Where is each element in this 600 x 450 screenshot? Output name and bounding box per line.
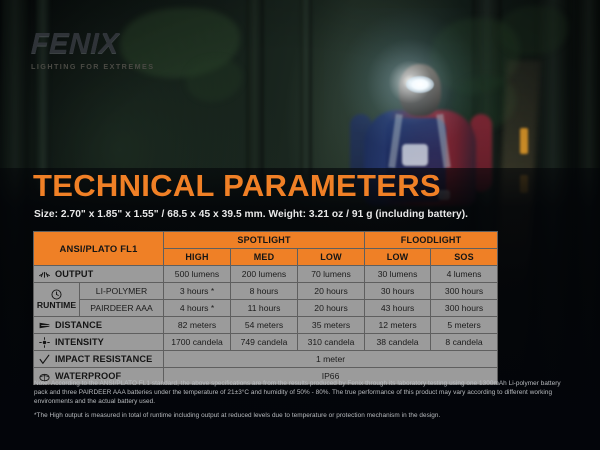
sun-burst-icon [38, 268, 51, 281]
table-row: INTENSITY 1700 candela 749 candela 310 c… [34, 334, 498, 351]
row-sublabel-pairdeer-aaa: PAIRDEER AAA [80, 300, 164, 317]
cell-distance-flood-low: 12 meters [365, 317, 431, 334]
table-row: RUNTIME LI-POLYMER 3 hours * 8 hours 20 … [34, 283, 498, 300]
cell-runtime-lipo-spot-high: 3 hours * [164, 283, 231, 300]
row-sublabel-li-polymer: LI-POLYMER [80, 283, 164, 300]
cell-intensity-flood-sos: 8 candela [431, 334, 498, 351]
header-mode-flood-sos: SOS [431, 249, 498, 266]
header-mode-spot-low: LOW [298, 249, 365, 266]
header-ansi-plato: ANSI/PLATO FL1 [34, 232, 164, 266]
cell-runtime-aaa-spot-high: 4 hours * [164, 300, 231, 317]
footnote-star: *The High output is measured in total of… [34, 411, 570, 420]
cell-output-spot-low: 70 lumens [298, 266, 365, 283]
row-label-text: RUNTIME [37, 301, 76, 311]
cell-intensity-spot-med: 749 candela [231, 334, 298, 351]
table-row: PAIRDEER AAA 4 hours * 11 hours 20 hours… [34, 300, 498, 317]
header-mode-spot-med: MED [231, 249, 298, 266]
cell-intensity-flood-low: 38 candela [365, 334, 431, 351]
cell-intensity-spot-low: 310 candela [298, 334, 365, 351]
cell-runtime-aaa-flood-low: 43 hours [365, 300, 431, 317]
cell-runtime-aaa-flood-sos: 300 hours [431, 300, 498, 317]
cell-runtime-lipo-flood-sos: 300 hours [431, 283, 498, 300]
table-row: DISTANCE 82 meters 54 meters 35 meters 1… [34, 317, 498, 334]
header-mode-spot-high: HIGH [164, 249, 231, 266]
row-label-text: IMPACT RESISTANCE [55, 354, 152, 364]
cell-output-spot-high: 500 lumens [164, 266, 231, 283]
cell-runtime-lipo-flood-low: 30 hours [365, 283, 431, 300]
cell-runtime-lipo-spot-med: 8 hours [231, 283, 298, 300]
fenix-logo: FENIX LIGHTING FOR EXTREMES [31, 30, 155, 71]
cell-runtime-aaa-spot-low: 20 hours [298, 300, 365, 317]
brand-tagline: LIGHTING FOR EXTREMES [31, 62, 155, 71]
cell-distance-spot-low: 35 meters [298, 317, 365, 334]
cell-output-flood-low: 30 lumens [365, 266, 431, 283]
row-label-intensity: INTENSITY [34, 334, 164, 351]
cell-intensity-spot-high: 1700 candela [164, 334, 231, 351]
cell-runtime-aaa-spot-med: 11 hours [231, 300, 298, 317]
check-icon [38, 353, 51, 366]
cell-runtime-lipo-spot-low: 20 hours [298, 283, 365, 300]
row-label-impact-resistance: IMPACT RESISTANCE [34, 351, 164, 368]
cell-output-spot-med: 200 lumens [231, 266, 298, 283]
header-group-floodlight: FLOODLIGHT [365, 232, 498, 249]
cell-output-flood-sos: 4 lumens [431, 266, 498, 283]
footnote-main: Note: According to the ANSI/PLATO FL1 st… [34, 379, 570, 406]
technical-parameters-table: ANSI/PLATO FL1 SPOTLIGHT FLOODLIGHT HIGH… [33, 231, 498, 385]
table-row: IMPACT RESISTANCE 1 meter [34, 351, 498, 368]
cell-distance-spot-high: 82 meters [164, 317, 231, 334]
row-label-runtime: RUNTIME [34, 283, 80, 317]
footnotes: Note: According to the ANSI/PLATO FL1 st… [34, 379, 570, 420]
beam-icon [38, 319, 51, 332]
row-label-text: DISTANCE [55, 320, 102, 330]
cell-impact-resistance-value: 1 meter [164, 351, 498, 368]
row-label-text: INTENSITY [55, 337, 104, 347]
size-weight-line: Size: 2.70" x 1.85" x 1.55" / 68.5 x 45 … [34, 209, 468, 220]
brand-name: FENIX [30, 30, 155, 59]
table-group-header-row: ANSI/PLATO FL1 SPOTLIGHT FLOODLIGHT [34, 232, 498, 249]
row-label-output: OUTPUT [34, 266, 164, 283]
row-label-distance: DISTANCE [34, 317, 164, 334]
cell-distance-spot-med: 54 meters [231, 317, 298, 334]
row-label-text: OUTPUT [55, 269, 93, 279]
page-title: TECHNICAL PARAMETERS [33, 170, 441, 201]
header-group-spotlight: SPOTLIGHT [164, 232, 365, 249]
cell-distance-flood-sos: 5 meters [431, 317, 498, 334]
intensity-icon [38, 336, 51, 349]
table-row: OUTPUT 500 lumens 200 lumens 70 lumens 3… [34, 266, 498, 283]
header-mode-flood-low: LOW [365, 249, 431, 266]
product-spec-banner: FENIX LIGHTING FOR EXTREMES TECHNICAL PA… [0, 0, 600, 450]
